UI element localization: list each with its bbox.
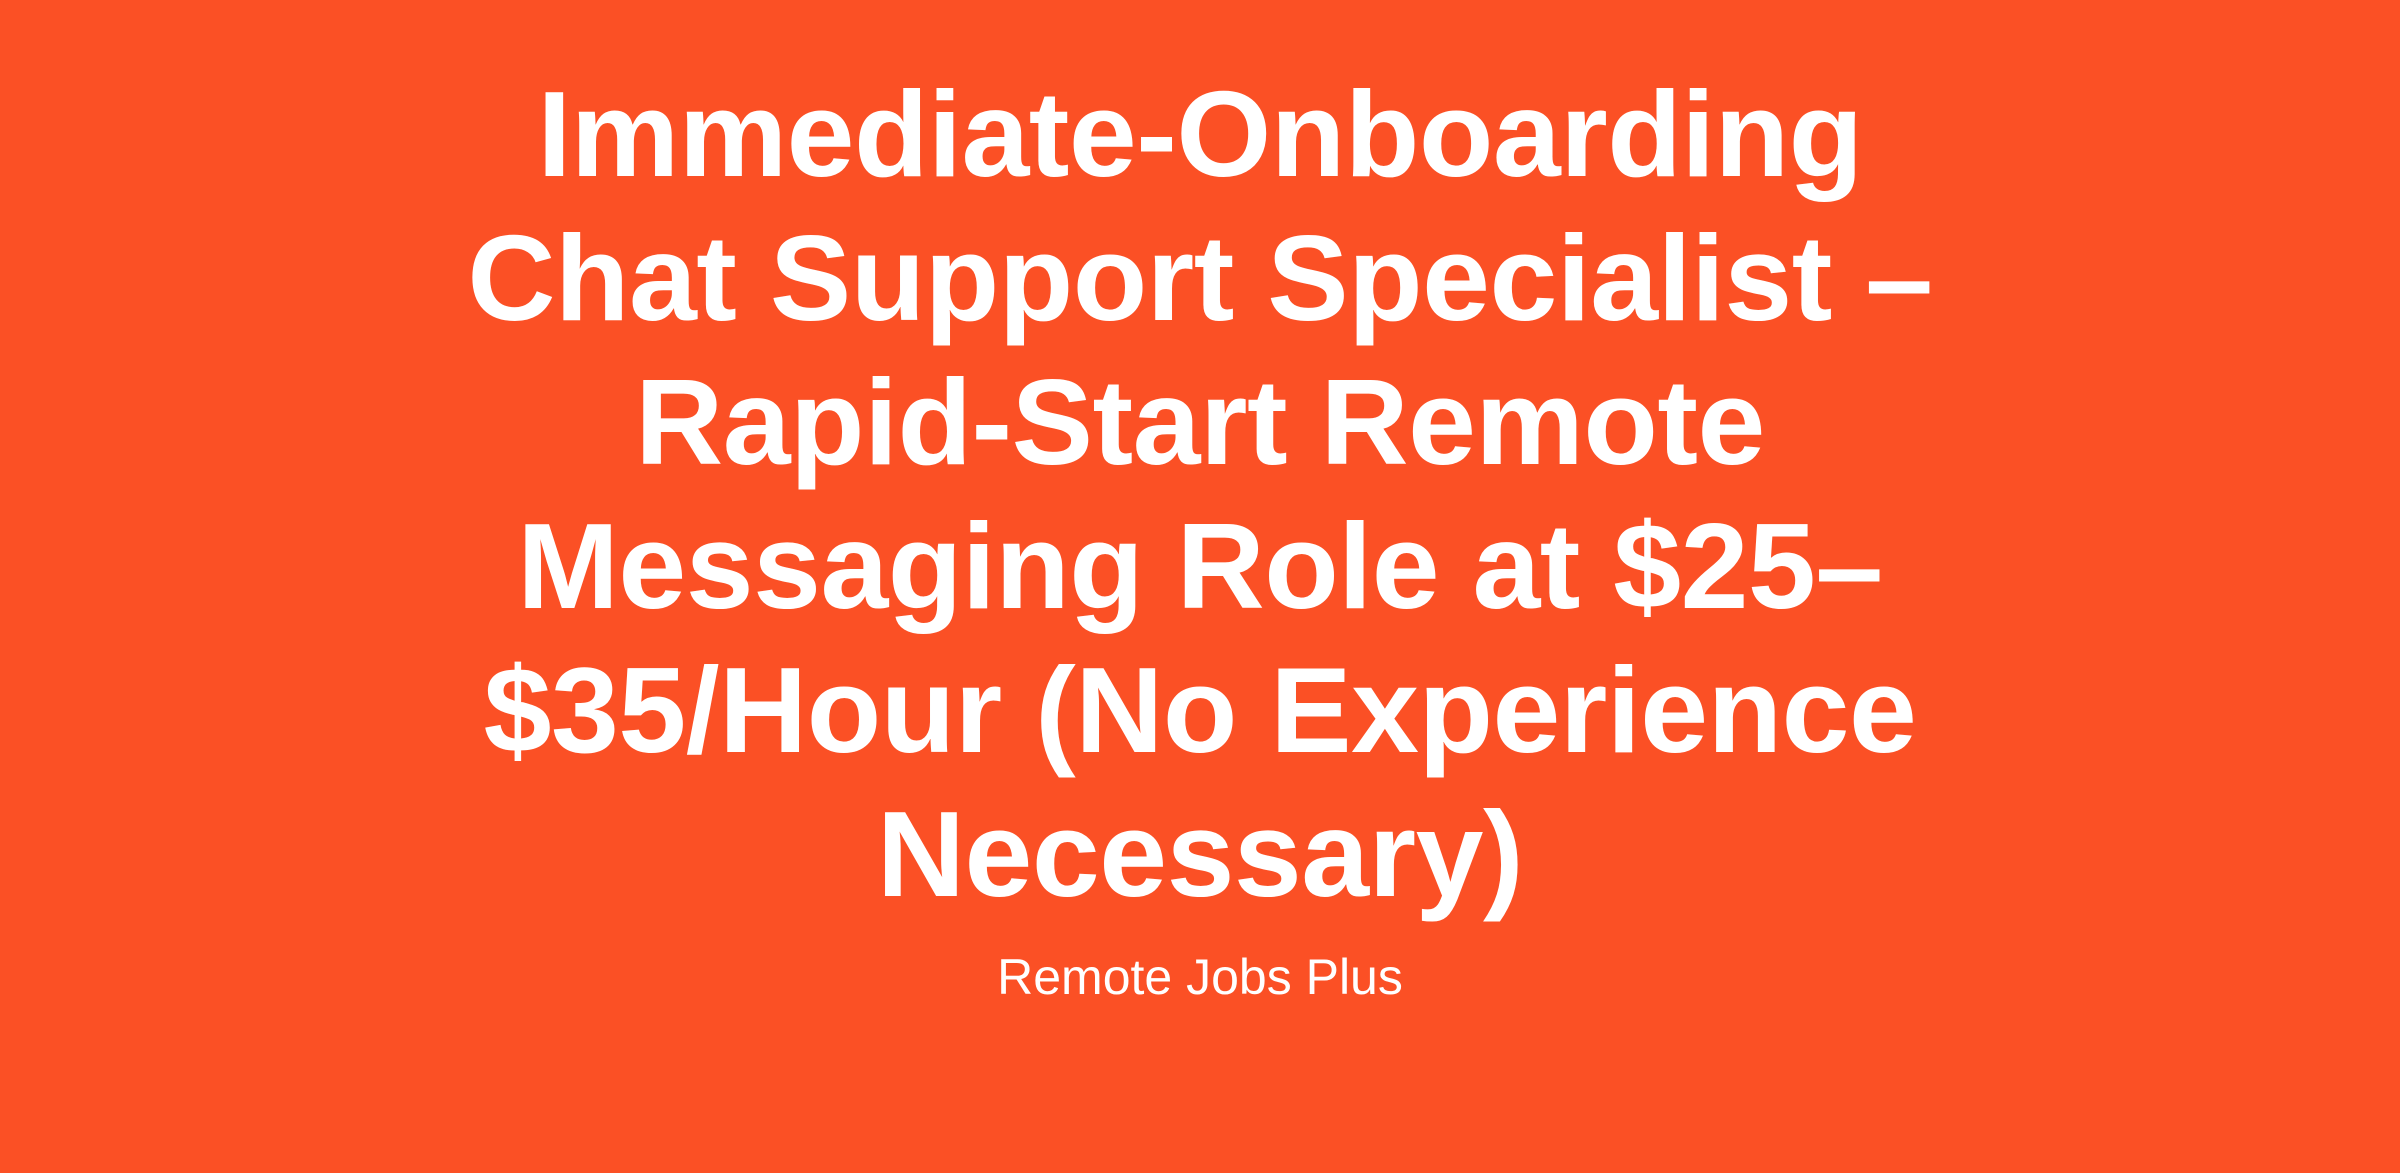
- card-content: Immediate-Onboarding Chat Support Specia…: [395, 0, 2005, 1006]
- site-name-subtitle: Remote Jobs Plus: [997, 948, 1403, 1006]
- page-title: Immediate-Onboarding Chat Support Specia…: [395, 62, 2005, 926]
- job-post-card: Immediate-Onboarding Chat Support Specia…: [0, 0, 2400, 1173]
